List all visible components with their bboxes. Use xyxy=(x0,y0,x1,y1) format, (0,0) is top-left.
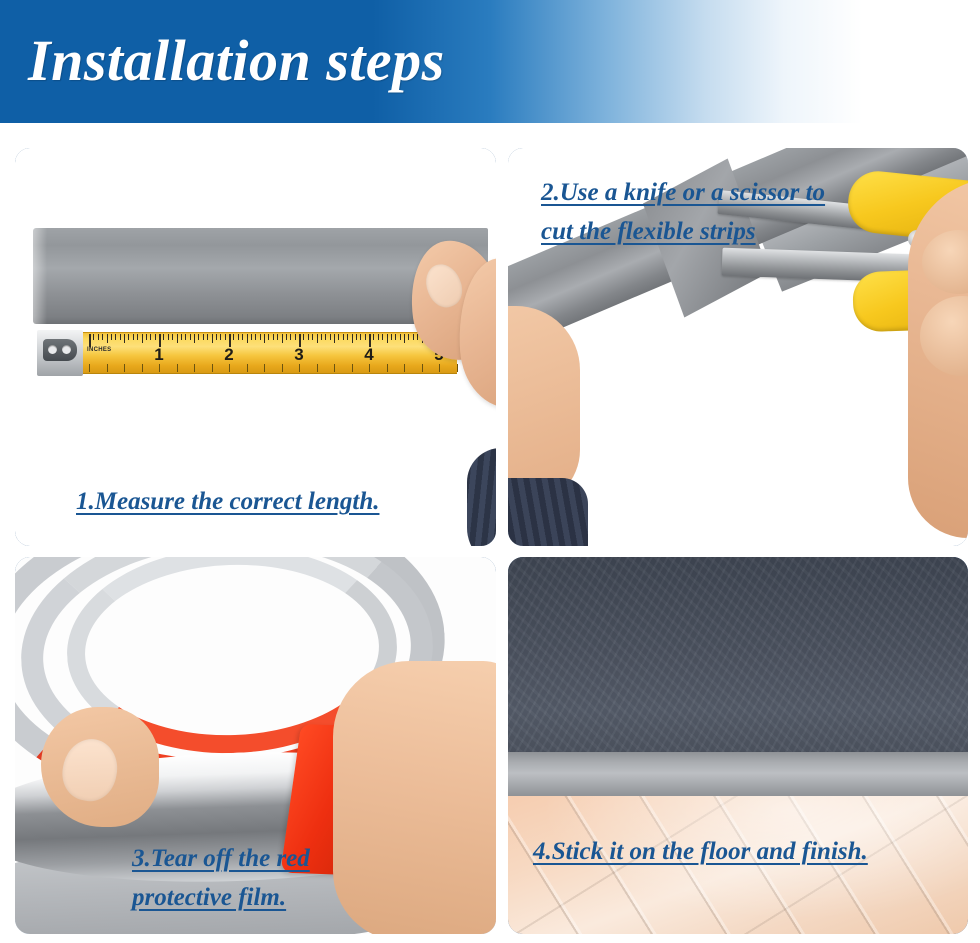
tape-tick xyxy=(155,334,156,340)
tape-tick xyxy=(273,334,274,340)
tape-tick xyxy=(343,334,344,340)
hook-hole xyxy=(48,345,57,354)
tape-tick xyxy=(225,334,226,340)
tape-tick xyxy=(247,334,248,343)
sleeve xyxy=(508,478,588,546)
tape-tick xyxy=(124,364,125,372)
tape-tick xyxy=(207,334,208,340)
knuckle xyxy=(922,230,968,294)
tape-number: 1 xyxy=(154,345,163,365)
tape-tick xyxy=(338,334,339,340)
hand-holding-strip xyxy=(508,306,580,506)
tape-tick xyxy=(382,334,383,340)
tape-tick xyxy=(216,334,217,340)
tape-tick xyxy=(264,334,265,343)
tape-tick xyxy=(334,334,335,343)
tape-unit-label: INCHES xyxy=(87,347,111,353)
tape-tick xyxy=(373,334,374,340)
knuckle xyxy=(920,296,968,376)
installation-steps-page: Installation steps 12345 xyxy=(0,0,980,943)
tape-tick xyxy=(177,364,178,372)
tape-number: 4 xyxy=(364,345,373,365)
tape-tick xyxy=(317,334,318,343)
caption-line: 4.Stick it on the floor and finish. xyxy=(533,832,868,871)
step-2-caption: 2.Use a knife or a scissor to cut the fl… xyxy=(541,173,825,251)
tape-tick xyxy=(172,334,173,340)
tape-tick xyxy=(93,334,94,340)
tape-tick xyxy=(212,334,213,343)
tape-tick xyxy=(264,364,265,372)
tape-tick xyxy=(203,334,204,340)
tape-tick xyxy=(194,334,195,343)
tape-tick xyxy=(312,334,313,340)
tape-tick xyxy=(212,364,213,372)
tape-tick xyxy=(365,334,366,340)
tape-tick xyxy=(356,334,357,340)
tape-tick xyxy=(277,334,278,340)
tape-tick xyxy=(299,364,300,372)
tape-ticks: 12345 xyxy=(71,333,457,373)
tape-tick xyxy=(142,334,143,343)
tape-number: 2 xyxy=(224,345,233,365)
tape-measure: 12345 INCHES xyxy=(37,330,457,376)
tape-tick xyxy=(317,364,318,372)
hand-holding-scissors xyxy=(908,178,968,538)
tape-tick xyxy=(286,334,287,340)
tape-tick xyxy=(251,334,252,340)
step-panel-2: 2.Use a knife or a scissor to cut the fl… xyxy=(508,148,968,546)
tape-tick xyxy=(369,364,370,372)
tape-tick xyxy=(334,364,335,372)
step-3-caption: 3.Tear off the red protective film. xyxy=(132,839,310,917)
tape-tick xyxy=(177,334,178,343)
caption-line: protective film. xyxy=(132,878,310,917)
tape-tick xyxy=(290,334,291,340)
tape-tick xyxy=(111,334,112,340)
page-title: Installation steps xyxy=(28,22,445,100)
installed-baseboard-photo xyxy=(508,557,968,934)
tape-tick xyxy=(378,334,379,340)
fingernail xyxy=(420,259,468,313)
hook-hole xyxy=(62,345,71,354)
header-banner: Installation steps xyxy=(0,0,980,123)
tape-tick xyxy=(220,334,221,340)
tape-tick xyxy=(146,334,147,340)
tape-tick xyxy=(128,334,129,340)
tape-tick xyxy=(325,334,326,340)
step-panel-4-content xyxy=(508,557,968,934)
wall xyxy=(508,557,968,754)
tape-tick xyxy=(229,364,230,372)
tape-tick xyxy=(330,334,331,340)
tape-tick xyxy=(347,334,348,340)
tape-tick xyxy=(387,334,388,343)
tape-hook xyxy=(37,330,83,376)
tape-tick xyxy=(352,364,353,372)
tape-tick xyxy=(107,334,108,343)
tape-tick xyxy=(352,334,353,343)
tape-tick xyxy=(247,364,248,372)
tape-tick xyxy=(133,334,134,340)
step-4-caption: 4.Stick it on the floor and finish. xyxy=(533,832,868,871)
tape-tick xyxy=(120,334,121,340)
tape-tick xyxy=(395,334,396,340)
caption-line: 3.Tear off the red xyxy=(132,839,310,878)
tape-tick xyxy=(391,334,392,340)
tape-blade: 12345 xyxy=(71,332,457,374)
step-panel-4: 4.Stick it on the floor and finish. xyxy=(508,557,968,934)
tape-tick xyxy=(282,334,283,343)
tape-tick xyxy=(360,334,361,340)
hand-holding-tape xyxy=(401,240,496,430)
tape-tick xyxy=(268,334,269,340)
tape-tick xyxy=(185,334,186,340)
tape-tick xyxy=(387,364,388,372)
tape-tick xyxy=(124,334,125,343)
tape-tick xyxy=(242,334,243,340)
hand-peeling-film xyxy=(333,661,496,934)
tape-tick xyxy=(190,334,191,340)
tape-tick xyxy=(233,334,234,340)
tape-tick xyxy=(150,334,151,340)
tape-tick xyxy=(194,364,195,372)
tape-tick xyxy=(198,334,199,340)
tape-tick xyxy=(181,334,182,340)
caption-line: cut the flexible strips xyxy=(541,212,825,251)
tape-tick xyxy=(163,334,164,340)
tape-number: 3 xyxy=(294,345,303,365)
tape-tick xyxy=(89,334,91,347)
tape-tick xyxy=(282,364,283,372)
tape-tick xyxy=(303,334,304,340)
step-1-caption: 1.Measure the correct length. xyxy=(76,482,379,521)
tape-tick xyxy=(107,364,108,372)
steps-grid: 12345 INCHES xyxy=(0,123,980,943)
step-panel-3: 3.Tear off the red protective film. xyxy=(15,557,496,934)
tape-tick xyxy=(260,334,261,340)
tape-tick xyxy=(159,364,160,372)
tape-tick xyxy=(168,334,169,340)
tape-tick xyxy=(295,334,296,340)
tape-tick xyxy=(89,364,90,372)
tape-tick xyxy=(321,334,322,340)
tape-tick xyxy=(308,334,309,340)
tape-tick xyxy=(115,334,116,340)
caption-line: 1.Measure the correct length. xyxy=(76,482,379,521)
installed-gray-strip xyxy=(508,752,968,798)
tape-tick xyxy=(238,334,239,340)
tape-tick xyxy=(98,334,99,340)
tape-tick xyxy=(255,334,256,340)
caption-line: 2.Use a knife or a scissor to xyxy=(541,173,825,212)
tape-tick xyxy=(102,334,103,340)
step-panel-1: 12345 INCHES xyxy=(15,148,496,546)
tape-tick xyxy=(137,334,138,340)
tape-tick xyxy=(142,364,143,372)
